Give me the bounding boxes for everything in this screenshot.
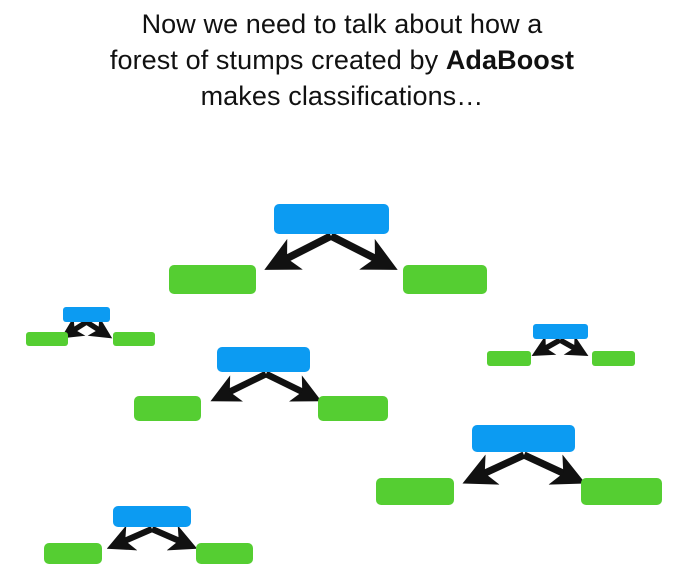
arrow-left (272, 236, 331, 266)
arrow-right (87, 322, 108, 335)
stump-left-small-root-node (63, 307, 110, 322)
arrow-right (331, 236, 390, 266)
title-line-2-text: forest of stumps created by (110, 45, 446, 75)
stump-right-small-root-node (533, 324, 588, 339)
arrow-right (266, 374, 315, 398)
stump-right-small-leaf-left (487, 351, 531, 366)
stump-middle-left-leaf-left (134, 396, 201, 421)
stump-middle-left-leaf-right (318, 396, 388, 421)
arrow-left (470, 455, 524, 480)
stump-bottom-right-root-node (472, 425, 575, 452)
stump-right-small-arrows (537, 340, 583, 353)
arrow-right (524, 455, 578, 480)
title-emphasis-adaboost: AdaBoost (446, 45, 574, 75)
stump-middle-left-root-node (217, 347, 310, 372)
arrow-left (113, 529, 152, 546)
stump-top-center-leaf-right (403, 265, 487, 294)
title-line-2: forest of stumps created by AdaBoost (0, 42, 684, 78)
stump-bottom-left-leaf-left (44, 543, 102, 564)
stump-bottom-right-arrows (470, 455, 578, 480)
stump-top-center-arrows (272, 236, 390, 266)
slide-canvas: Now we need to talk about how a forest o… (0, 0, 684, 582)
arrow-right (152, 529, 191, 546)
arrow-left (537, 340, 560, 353)
title-line-1: Now we need to talk about how a (0, 6, 684, 42)
arrow-right (560, 340, 583, 353)
arrow-left (217, 374, 266, 398)
stump-left-small-arrows (66, 322, 107, 335)
stump-right-small-leaf-right (592, 351, 635, 366)
title-line-3: makes classifications… (0, 78, 684, 114)
stump-middle-left-arrows (217, 374, 315, 398)
stump-bottom-right-leaf-right (581, 478, 662, 505)
stump-left-small-leaf-right (113, 332, 155, 346)
stump-left-small-leaf-left (26, 332, 68, 346)
arrow-left (66, 322, 87, 335)
stump-bottom-left-leaf-right (196, 543, 253, 564)
stump-top-center-root-node (274, 204, 389, 234)
page-title: Now we need to talk about how a forest o… (0, 6, 684, 114)
stump-top-center-leaf-left (169, 265, 256, 294)
stump-bottom-right-leaf-left (376, 478, 454, 505)
stump-bottom-left-arrows (113, 529, 191, 546)
stump-bottom-left-root-node (113, 506, 191, 527)
